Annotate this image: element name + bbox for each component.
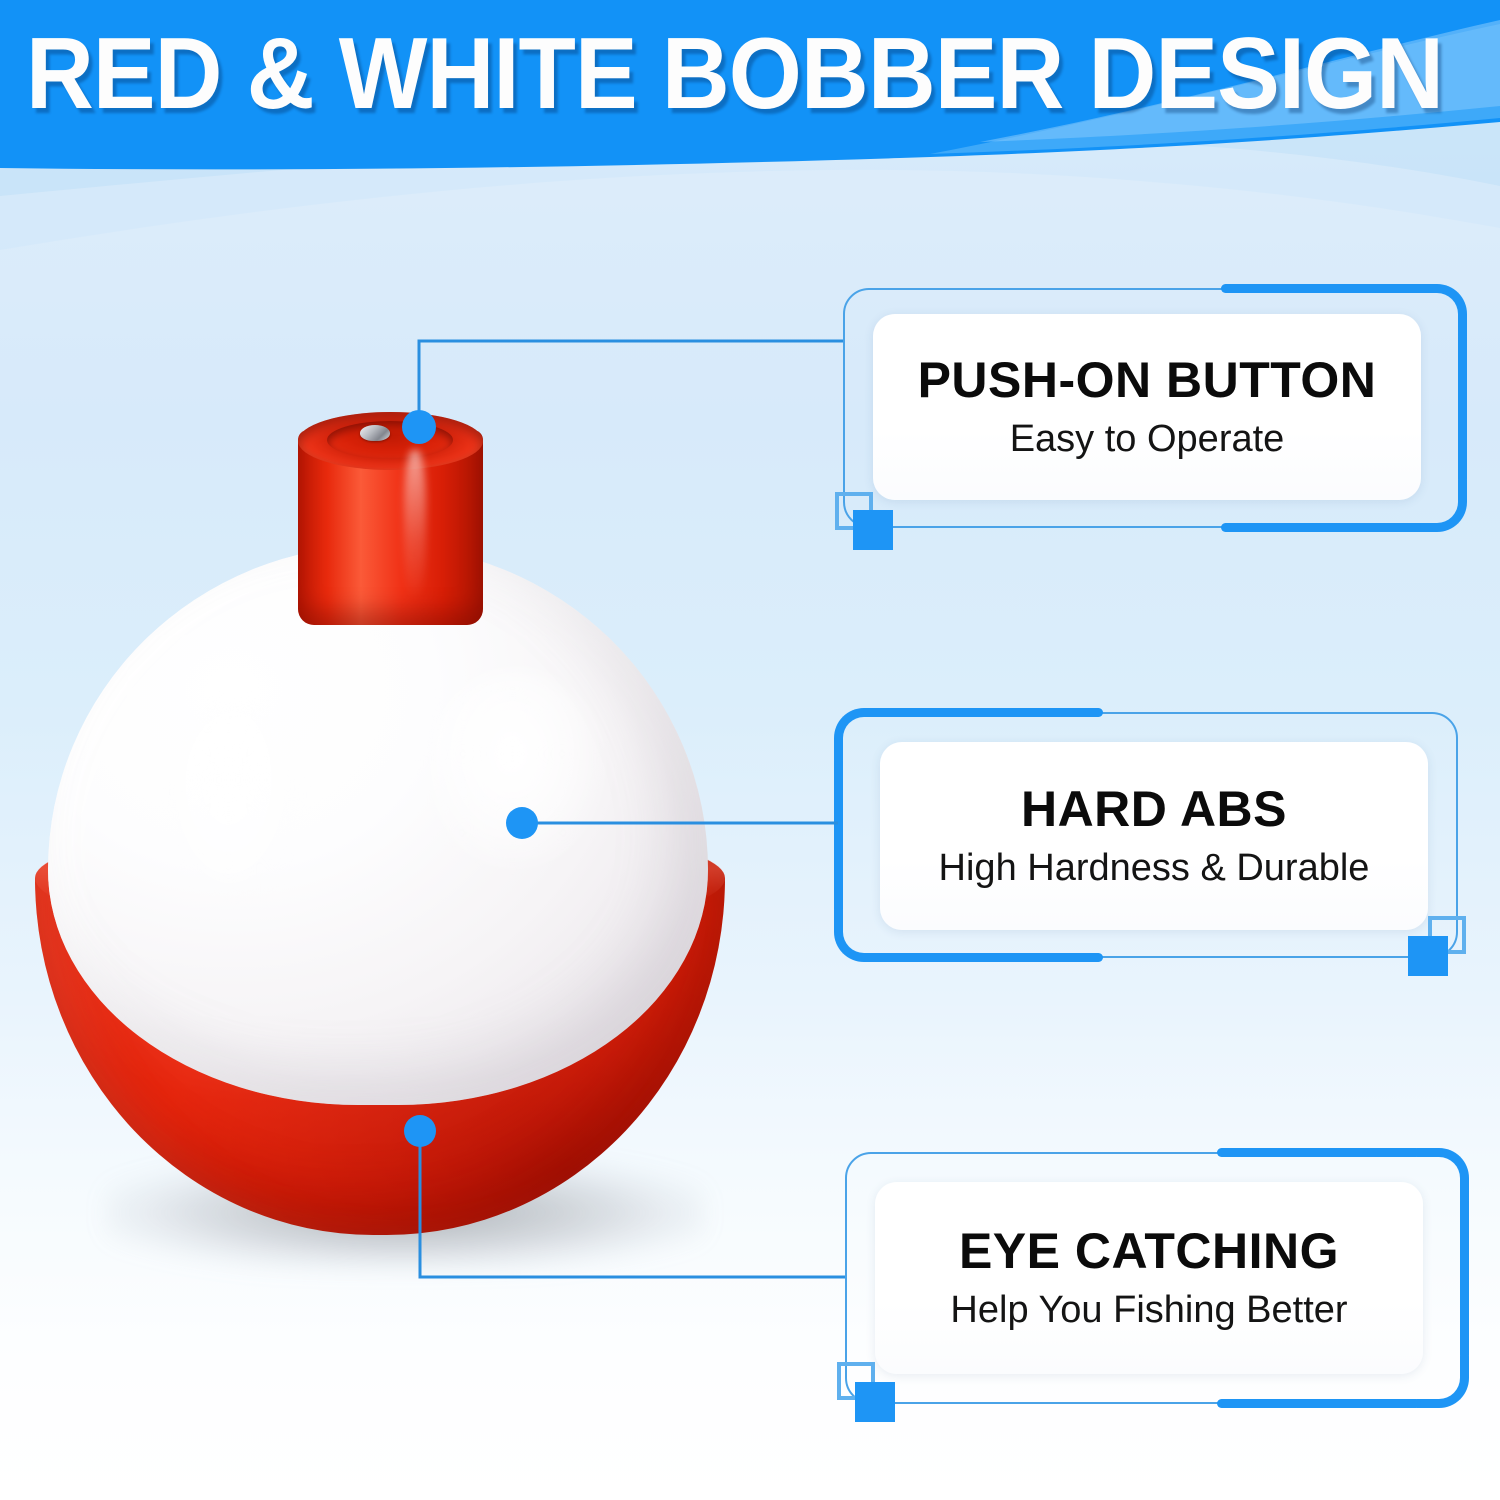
callout-eye-catching[interactable]: EYE CATCHING Help You Fishing Better	[845, 1152, 1465, 1404]
callout-accent-corner-top-right	[1417, 1148, 1469, 1200]
bobber-top-half	[48, 545, 708, 1105]
callout-accent-bottom	[1217, 1399, 1421, 1408]
callout-accent-left	[834, 756, 843, 914]
callout-subtitle: High Hardness & Durable	[939, 844, 1370, 892]
callout-hard-abs[interactable]: HARD ABS High Hardness & Durable	[838, 712, 1458, 958]
header-banner: RED & WHITE BOBBER DESIGN	[0, 0, 1500, 172]
callout-accent-right	[1460, 1196, 1469, 1360]
infographic-page: RED & WHITE BOBBER DESIGN	[0, 0, 1500, 1500]
callout-card: PUSH-ON BUTTON Easy to Operate	[873, 314, 1421, 500]
page-title: RED & WHITE BOBBER DESIGN	[26, 18, 1328, 130]
callout-accent-top	[1221, 284, 1421, 293]
callout-card: HARD ABS High Hardness & Durable	[880, 742, 1428, 930]
callout-card: EYE CATCHING Help You Fishing Better	[875, 1182, 1423, 1374]
callout-subtitle: Easy to Operate	[1010, 415, 1285, 463]
callout-push-on-button[interactable]: PUSH-ON BUTTON Easy to Operate	[843, 288, 1463, 528]
callout-subtitle: Help You Fishing Better	[950, 1286, 1347, 1334]
decor-square-filled	[853, 510, 893, 550]
bobber-cap-recess	[327, 421, 453, 459]
callout-accent-top	[878, 708, 1103, 717]
decor-square-filled	[1408, 936, 1448, 976]
callout-accent-bottom	[878, 953, 1103, 962]
callout-accent-top	[1217, 1148, 1421, 1157]
callout-title: PUSH-ON BUTTON	[918, 351, 1377, 409]
bobber-cap-sheen	[404, 450, 426, 600]
callout-accent-bottom	[1221, 523, 1421, 532]
callout-accent-corner-top-right	[1415, 284, 1467, 336]
callout-accent-corner-bottom-right	[1415, 480, 1467, 532]
callout-accent-corner-top-left	[834, 708, 886, 760]
callout-title: HARD ABS	[1021, 780, 1287, 838]
callout-title: EYE CATCHING	[959, 1222, 1339, 1280]
bobber-spring-icon	[360, 425, 390, 441]
bobber-highlight-right	[420, 670, 605, 870]
decor-square-filled	[855, 1382, 895, 1422]
callout-accent-corner-bottom-right	[1417, 1356, 1469, 1408]
callout-accent-right	[1458, 332, 1467, 484]
